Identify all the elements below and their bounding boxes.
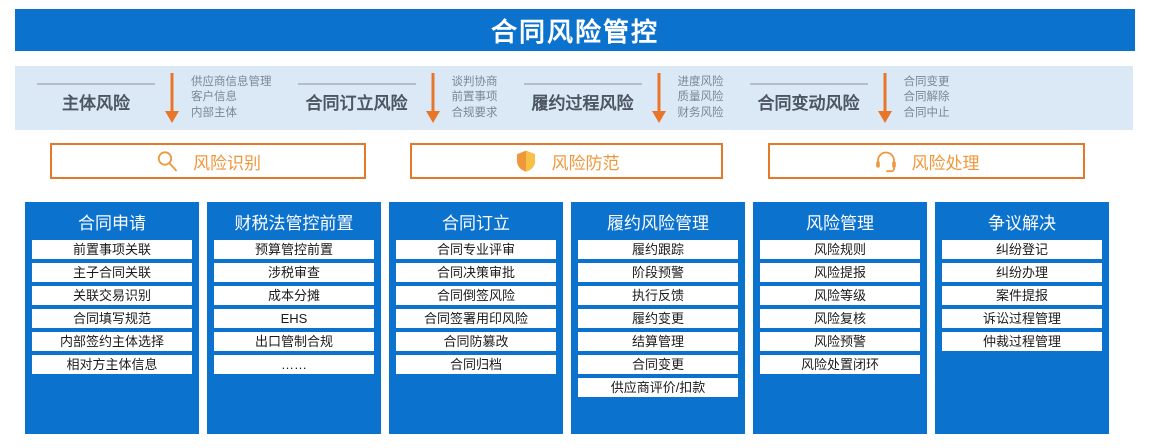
headset-icon (874, 149, 898, 173)
risk-phase-label: 风险处理 (912, 149, 980, 174)
module-card-item[interactable]: 纠纷办理 (942, 263, 1102, 282)
risk-stage-subitem: 合同变更 (904, 75, 950, 90)
module-card-list: 风险规则风险提报风险等级风险复核风险预警风险处置闭环 (753, 240, 927, 374)
risk-phase-2-button[interactable]: 风险防范 (410, 143, 723, 179)
risk-stage: 合同变动风险合同变更合同解除合同中止 (750, 66, 950, 130)
module-card: 风险管理风险规则风险提报风险等级风险复核风险预警风险处置闭环 (753, 202, 927, 434)
risk-stage-subitem: 谈判协商 (452, 75, 498, 90)
module-card: 合同申请前置事项关联主子合同关联关联交易识别合同填写规范内部签约主体选择相对方主… (25, 202, 199, 434)
module-card-item[interactable]: 执行反馈 (578, 286, 738, 305)
module-card-item[interactable]: 相对方主体信息 (32, 355, 192, 374)
magnifier-icon (155, 149, 179, 173)
risk-stage-sublist: 谈判协商前置事项合规要求 (452, 75, 498, 121)
risk-stage-label-wrap: 履约过程风险 (524, 83, 642, 114)
module-card-item[interactable]: 风险预警 (760, 332, 920, 351)
risk-stage-sublist: 供应商信息管理客户信息内部主体 (191, 75, 272, 121)
module-card-row: 合同申请前置事项关联主子合同关联关联交易识别合同填写规范内部签约主体选择相对方主… (25, 202, 1125, 434)
module-card-item[interactable]: EHS (214, 309, 374, 328)
module-card-title: 合同订立 (442, 209, 510, 234)
module-card-item[interactable]: 关联交易识别 (32, 286, 192, 305)
module-card: 争议解决纠纷登记纠纷办理案件提报诉讼过程管理仲裁过程管理 (935, 202, 1109, 434)
module-card-title: 履约风险管理 (607, 209, 709, 234)
risk-stage-subitem: 合同解除 (904, 90, 950, 105)
module-card-item[interactable]: 风险复核 (760, 309, 920, 328)
risk-phase-content: 风险识别 (155, 149, 261, 174)
risk-stage-subitem: 客户信息 (191, 90, 272, 105)
module-card-item[interactable]: 成本分摊 (214, 286, 374, 305)
risk-phase-row: 风险识别风险防范风险处理 (0, 143, 1150, 181)
shield-icon (514, 149, 538, 173)
page-title: 合同风险管控 (491, 12, 659, 49)
module-card-item[interactable]: 风险处置闭环 (760, 355, 920, 374)
module-card-item[interactable]: 合同倒签风险 (396, 286, 556, 305)
module-card-item[interactable]: 履约跟踪 (578, 240, 738, 259)
risk-stage-subitem: 合同中止 (904, 106, 950, 121)
module-card-list: 履约跟踪阶段预警执行反馈履约变更结算管理合同变更供应商评价/扣款 (571, 240, 745, 397)
module-card-item[interactable]: 出口管制合规 (214, 332, 374, 351)
stage-rule-line (37, 83, 155, 85)
down-arrow-icon (161, 71, 183, 125)
module-card-item[interactable]: 诉讼过程管理 (942, 309, 1102, 328)
risk-stage-label: 履约过程风险 (532, 89, 634, 114)
stage-rule-line (750, 83, 868, 85)
risk-stage-subitem: 前置事项 (452, 90, 498, 105)
risk-stage: 主体风险供应商信息管理客户信息内部主体 (37, 66, 272, 130)
module-card-list: 前置事项关联主子合同关联关联交易识别合同填写规范内部签约主体选择相对方主体信息 (25, 240, 199, 374)
module-card-item[interactable]: 合同专业评审 (396, 240, 556, 259)
module-card-item[interactable]: 案件提报 (942, 286, 1102, 305)
risk-stage-band: 主体风险供应商信息管理客户信息内部主体合同订立风险谈判协商前置事项合规要求履约过… (15, 66, 1133, 130)
module-card-item[interactable]: 风险等级 (760, 286, 920, 305)
stage-rule-line (298, 83, 416, 85)
risk-stage: 履约过程风险进度风险质量风险财务风险 (524, 66, 724, 130)
module-card: 财税法管控前置预算管控前置涉税审查成本分摊EHS出口管制合规…… (207, 202, 381, 434)
module-card: 履约风险管理履约跟踪阶段预警执行反馈履约变更结算管理合同变更供应商评价/扣款 (571, 202, 745, 434)
down-arrow-icon (874, 71, 896, 125)
module-card-item[interactable]: 合同变更 (578, 355, 738, 374)
module-card-item[interactable]: 预算管控前置 (214, 240, 374, 259)
risk-stage-subitem: 财务风险 (678, 106, 724, 121)
module-card-item[interactable]: 内部签约主体选择 (32, 332, 192, 351)
module-card-item[interactable]: 合同归档 (396, 355, 556, 374)
risk-stage-subitem: 合规要求 (452, 106, 498, 121)
risk-stage-sublist: 合同变更合同解除合同中止 (904, 75, 950, 121)
risk-stage-sublist: 进度风险质量风险财务风险 (678, 75, 724, 121)
module-card-item[interactable]: 主子合同关联 (32, 263, 192, 282)
risk-stage-label-wrap: 主体风险 (37, 83, 155, 114)
module-card-list: 纠纷登记纠纷办理案件提报诉讼过程管理仲裁过程管理 (935, 240, 1109, 351)
risk-stage-label-wrap: 合同变动风险 (750, 83, 868, 114)
module-card-item[interactable]: 仲裁过程管理 (942, 332, 1102, 351)
module-card-item[interactable]: 合同填写规范 (32, 309, 192, 328)
module-card-item[interactable]: 合同签署用印风险 (396, 309, 556, 328)
module-card: 合同订立合同专业评审合同决策审批合同倒签风险合同签署用印风险合同防篡改合同归档 (389, 202, 563, 434)
module-card-item[interactable]: 合同决策审批 (396, 263, 556, 282)
module-card-item[interactable]: 涉税审查 (214, 263, 374, 282)
risk-stage-label-wrap: 合同订立风险 (298, 83, 416, 114)
risk-stage-subitem: 供应商信息管理 (191, 75, 272, 90)
stage-rule-line (524, 83, 642, 85)
module-card-item[interactable]: 结算管理 (578, 332, 738, 351)
down-arrow-icon (422, 71, 444, 125)
risk-phase-label: 风险识别 (193, 149, 261, 174)
risk-stage-label: 合同订立风险 (306, 89, 408, 114)
module-card-item[interactable]: 纠纷登记 (942, 240, 1102, 259)
risk-stage-label: 合同变动风险 (758, 89, 860, 114)
risk-phase-content: 风险防范 (514, 149, 620, 174)
risk-stage-label: 主体风险 (62, 89, 130, 114)
page-title-bar: 合同风险管控 (15, 9, 1135, 51)
module-card-title: 财税法管控前置 (235, 209, 354, 234)
module-card-item[interactable]: 风险提报 (760, 263, 920, 282)
risk-phase-3-button[interactable]: 风险处理 (768, 143, 1085, 179)
module-card-list: 预算管控前置涉税审查成本分摊EHS出口管制合规…… (207, 240, 381, 374)
module-card-item[interactable]: 风险规则 (760, 240, 920, 259)
module-card-item[interactable]: 合同防篡改 (396, 332, 556, 351)
module-card-list: 合同专业评审合同决策审批合同倒签风险合同签署用印风险合同防篡改合同归档 (389, 240, 563, 374)
module-card-item[interactable]: …… (214, 355, 374, 374)
risk-stage: 合同订立风险谈判协商前置事项合规要求 (298, 66, 498, 130)
risk-stage-subitem: 质量风险 (678, 90, 724, 105)
risk-phase-1-button[interactable]: 风险识别 (50, 143, 366, 179)
down-arrow-icon (648, 71, 670, 125)
module-card-title: 合同申请 (78, 209, 146, 234)
module-card-item[interactable]: 阶段预警 (578, 263, 738, 282)
risk-stage-subitem: 进度风险 (678, 75, 724, 90)
module-card-item[interactable]: 前置事项关联 (32, 240, 192, 259)
risk-phase-content: 风险处理 (874, 149, 980, 174)
module-card-title: 争议解决 (988, 209, 1056, 234)
module-card-item[interactable]: 供应商评价/扣款 (578, 378, 738, 397)
module-card-title: 风险管理 (806, 209, 874, 234)
module-card-item[interactable]: 履约变更 (578, 309, 738, 328)
risk-phase-label: 风险防范 (552, 149, 620, 174)
risk-stage-subitem: 内部主体 (191, 106, 272, 121)
